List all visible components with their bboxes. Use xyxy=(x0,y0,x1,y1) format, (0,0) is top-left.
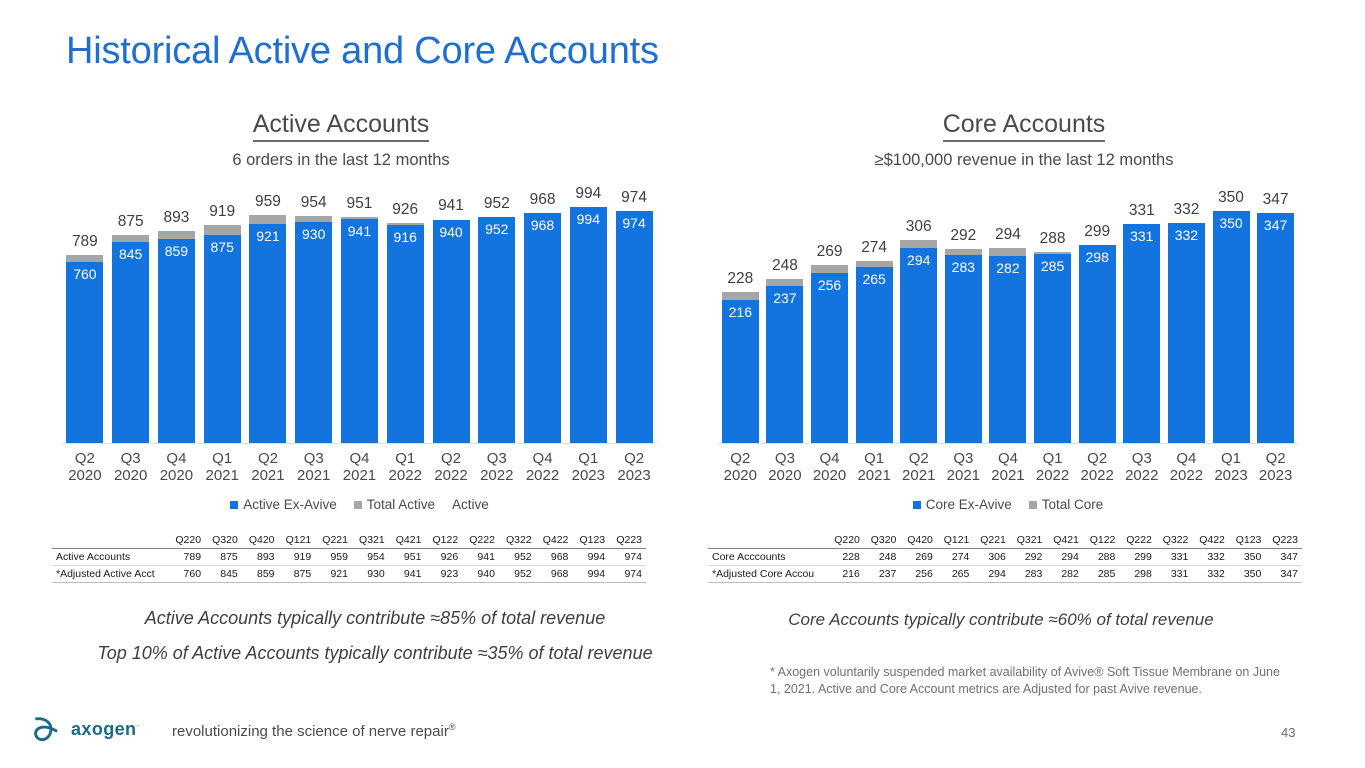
core-accounts-heading-text: Core Accounts xyxy=(943,110,1106,142)
bar-segment-ex-avive: 916 xyxy=(387,225,424,443)
axogen-wordmark-sup: · xyxy=(136,720,139,730)
bar-group: 954930 xyxy=(291,178,337,443)
bar-total-label: 994 xyxy=(575,185,601,203)
table-row: *Adjusted Core Accou21623725626529428328… xyxy=(708,566,1302,583)
table-cell: 941 xyxy=(462,549,499,566)
bar-segment-ex-avive: 283 xyxy=(945,255,982,443)
table-column-header: Q221 xyxy=(315,532,352,549)
table-column-header xyxy=(708,532,827,549)
table-column-header: Q422 xyxy=(1192,532,1229,549)
table-row: *Adjusted Active Acct7608458598759219309… xyxy=(52,566,646,583)
bar-value-label: 265 xyxy=(862,271,885,287)
bar-value-label: 282 xyxy=(996,260,1019,276)
table-cell: 926 xyxy=(425,549,462,566)
bar-group: 941940 xyxy=(428,178,474,443)
legend-item[interactable]: Active Ex-Avive xyxy=(230,497,337,512)
active-accounts-bars: 7897608758458938599198759599219549309519… xyxy=(62,178,657,443)
bar-segment-total xyxy=(66,255,103,262)
x-axis-tick: Q42020 xyxy=(154,450,200,484)
bar-value-label: 916 xyxy=(394,229,417,245)
bar-value-label: 347 xyxy=(1264,217,1287,233)
bar-value-label: 285 xyxy=(1041,258,1064,274)
bar-segment-ex-avive: 921 xyxy=(249,224,286,443)
table-cell: 216 xyxy=(827,566,864,583)
core-accounts-heading: Core Accounts xyxy=(683,110,1365,139)
table-cell: 282 xyxy=(1046,566,1083,583)
bar-segment-ex-avive: 875 xyxy=(204,235,241,443)
table-column-header: Q320 xyxy=(864,532,901,549)
bar-group: 288285 xyxy=(1030,178,1075,443)
table-header-row: Q220Q320Q420Q121Q221Q321Q421Q122Q222Q322… xyxy=(708,532,1302,549)
table-cell: 875 xyxy=(205,549,242,566)
bar-segment-ex-avive: 952 xyxy=(478,217,515,443)
bar-total-label: 347 xyxy=(1263,191,1289,209)
bar-segment-ex-avive: 994 xyxy=(570,207,607,443)
bar-group: 292283 xyxy=(941,178,986,443)
x-axis-tick: Q22020 xyxy=(718,450,763,484)
table-cell: 845 xyxy=(205,566,242,583)
table-cell: 299 xyxy=(1119,549,1156,566)
bar-group: 994994 xyxy=(565,178,611,443)
table-cell: 283 xyxy=(1010,566,1047,583)
table-cell: 331 xyxy=(1156,549,1193,566)
bar-segment-ex-avive: 285 xyxy=(1034,254,1071,443)
bar-total-label: 350 xyxy=(1218,189,1244,207)
bar-value-label: 968 xyxy=(531,217,554,233)
bar-segment-ex-avive: 282 xyxy=(989,256,1026,443)
table-cell: 306 xyxy=(973,549,1010,566)
bar-group: 306294 xyxy=(896,178,941,443)
table-column-header: Q221 xyxy=(973,532,1010,549)
table-cell: 959 xyxy=(315,549,352,566)
table-header-row: Q220Q320Q420Q121Q221Q321Q421Q122Q222Q322… xyxy=(52,532,646,549)
bar-segment-ex-avive: 331 xyxy=(1123,224,1160,444)
table-cell: 968 xyxy=(536,549,573,566)
bar-stack: 968 xyxy=(524,213,561,443)
table-column-header: Q223 xyxy=(1265,532,1302,549)
table-cell: 294 xyxy=(1046,549,1083,566)
active-accounts-x-axis: Q22020Q32020Q42020Q12021Q22021Q32021Q420… xyxy=(62,450,657,484)
bar-total-label: 292 xyxy=(950,227,976,245)
table-cell: 332 xyxy=(1192,549,1229,566)
core-accounts-bars: 2282162482372692562742653062942922832942… xyxy=(718,178,1298,443)
bar-group: 331331 xyxy=(1119,178,1164,443)
bar-total-label: 951 xyxy=(347,195,373,213)
bar-value-label: 921 xyxy=(256,228,279,244)
table-column-header: Q123 xyxy=(572,532,609,549)
bar-segment-ex-avive: 237 xyxy=(766,286,803,443)
bar-total-label: 332 xyxy=(1173,201,1199,219)
bar-total-label: 288 xyxy=(1040,230,1066,248)
table-row: Core Acccounts22824826927430629229428829… xyxy=(708,549,1302,566)
x-axis-tick: Q22023 xyxy=(611,450,657,484)
bar-value-label: 298 xyxy=(1085,249,1108,265)
table-cell: 332 xyxy=(1192,566,1229,583)
bar-group: 299298 xyxy=(1075,178,1120,443)
bar-stack: 859 xyxy=(158,231,195,443)
bar-total-label: 299 xyxy=(1084,223,1110,241)
bar-group: 350350 xyxy=(1209,178,1254,443)
table-cell: 228 xyxy=(827,549,864,566)
bar-value-label: 332 xyxy=(1175,227,1198,243)
bar-group: 959921 xyxy=(245,178,291,443)
legend-item[interactable]: Core Ex-Avive xyxy=(913,497,1012,512)
table-cell: 350 xyxy=(1229,566,1266,583)
bar-total-label: 269 xyxy=(817,243,843,261)
bar-value-label: 350 xyxy=(1219,215,1242,231)
table-column-header: Q322 xyxy=(1156,532,1193,549)
x-axis-tick: Q32022 xyxy=(1119,450,1164,484)
bar-stack: 283 xyxy=(945,249,982,443)
x-axis-tick: Q12022 xyxy=(1030,450,1075,484)
x-axis-tick: Q12023 xyxy=(565,450,611,484)
bar-value-label: 859 xyxy=(165,243,188,259)
table-column-header: Q421 xyxy=(1046,532,1083,549)
bar-segment-ex-avive: 256 xyxy=(811,273,848,443)
active-accounts-legend: Active Ex-AviveTotal ActiveActive xyxy=(62,497,657,512)
active-accounts-note-2: Top 10% of Active Accounts typically con… xyxy=(0,643,750,664)
bar-total-label: 228 xyxy=(727,270,753,288)
bar-group: 248237 xyxy=(763,178,808,443)
bar-group: 294282 xyxy=(986,178,1031,443)
bar-segment-total xyxy=(204,225,241,235)
x-axis-tick: Q22020 xyxy=(62,450,108,484)
x-axis-tick: Q12021 xyxy=(852,450,897,484)
bar-stack: 921 xyxy=(249,215,286,443)
bar-stack: 350 xyxy=(1213,211,1250,443)
tagline: revolutionizing the science of nerve rep… xyxy=(172,722,455,740)
bar-value-label: 760 xyxy=(73,266,96,282)
bar-stack: 331 xyxy=(1123,224,1160,444)
table-cell: 288 xyxy=(1083,549,1120,566)
bar-group: 332332 xyxy=(1164,178,1209,443)
bar-value-label: 845 xyxy=(119,246,142,262)
bar-value-label: 875 xyxy=(210,239,233,255)
bar-stack: 916 xyxy=(387,223,424,443)
bar-value-label: 237 xyxy=(773,290,796,306)
table-cell: 952 xyxy=(499,566,536,583)
bar-segment-ex-avive: 859 xyxy=(158,239,195,443)
core-accounts-x-axis: Q22020Q32020Q42020Q12021Q22021Q32021Q420… xyxy=(718,450,1298,484)
table-column-header: Q420 xyxy=(242,532,279,549)
table-cell: 923 xyxy=(425,566,462,583)
legend-label: Active Ex-Avive xyxy=(243,497,337,512)
table-cell: 350 xyxy=(1229,549,1266,566)
table-column-header: Q121 xyxy=(279,532,316,549)
bar-segment-total xyxy=(112,235,149,242)
bar-segment-total xyxy=(722,292,759,300)
bar-stack: 952 xyxy=(478,217,515,443)
bar-stack: 298 xyxy=(1079,245,1116,443)
bar-stack: 994 xyxy=(570,207,607,443)
tagline-registered-mark: ® xyxy=(449,722,456,732)
core-accounts-axis-line xyxy=(718,443,1298,444)
table-cell: 294 xyxy=(973,566,1010,583)
bar-total-label: 952 xyxy=(484,195,510,213)
bar-group: 789760 xyxy=(62,178,108,443)
bar-group: 968968 xyxy=(520,178,566,443)
table-row-label: Active Accounts xyxy=(52,549,168,566)
x-axis-tick: Q12021 xyxy=(199,450,245,484)
table-column-header: Q421 xyxy=(389,532,426,549)
table-cell: 921 xyxy=(315,566,352,583)
bar-stack: 875 xyxy=(204,225,241,443)
bar-total-label: 248 xyxy=(772,257,798,275)
bar-total-label: 954 xyxy=(301,194,327,212)
x-axis-tick: Q22022 xyxy=(428,450,474,484)
axogen-wordmark: axogen· xyxy=(71,719,140,740)
bar-value-label: 216 xyxy=(729,304,752,320)
bar-stack: 332 xyxy=(1168,223,1205,443)
bar-total-label: 959 xyxy=(255,193,281,211)
bar-stack: 237 xyxy=(766,279,803,443)
bar-segment-ex-avive: 940 xyxy=(433,220,470,443)
axogen-wordmark-text: axogen xyxy=(71,719,136,739)
bar-total-label: 968 xyxy=(530,191,556,209)
table-cell: 974 xyxy=(609,566,646,583)
x-axis-tick: Q42020 xyxy=(807,450,852,484)
x-axis-tick: Q42021 xyxy=(337,450,383,484)
slide: Historical Active and Core Accounts Acti… xyxy=(0,0,1365,768)
active-accounts-heading: Active Accounts xyxy=(0,110,682,139)
bar-total-label: 306 xyxy=(906,218,932,236)
bar-value-label: 930 xyxy=(302,226,325,242)
bar-group: 347347 xyxy=(1253,178,1298,443)
bar-total-label: 941 xyxy=(438,197,464,215)
bar-stack: 974 xyxy=(616,211,653,443)
bar-group: 274265 xyxy=(852,178,897,443)
table-column-header: Q222 xyxy=(1119,532,1156,549)
table-cell: 940 xyxy=(462,566,499,583)
table-column-header: Q122 xyxy=(1083,532,1120,549)
bar-group: 919875 xyxy=(199,178,245,443)
bar-segment-ex-avive: 298 xyxy=(1079,245,1116,443)
table-cell: 893 xyxy=(242,549,279,566)
core-accounts-subheading: ≥$100,000 revenue in the last 12 months xyxy=(683,151,1365,170)
x-axis-tick: Q22021 xyxy=(245,450,291,484)
page-number: 43 xyxy=(1281,725,1295,740)
bar-value-label: 940 xyxy=(439,224,462,240)
legend-label: Active xyxy=(452,497,489,512)
bar-value-label: 941 xyxy=(348,223,371,239)
bar-segment-total xyxy=(158,231,195,239)
table-column-header: Q123 xyxy=(1229,532,1266,549)
bar-value-label: 952 xyxy=(485,221,508,237)
bar-segment-ex-avive: 265 xyxy=(856,267,893,443)
bar-segment-total xyxy=(989,248,1026,256)
bar-total-label: 789 xyxy=(72,233,98,251)
table-cell: 994 xyxy=(572,549,609,566)
bar-segment-ex-avive: 294 xyxy=(900,248,937,443)
bar-segment-ex-avive: 332 xyxy=(1168,223,1205,443)
legend-swatch-icon xyxy=(1029,501,1037,509)
table-cell: 968 xyxy=(536,566,573,583)
bar-total-label: 274 xyxy=(861,239,887,257)
bar-value-label: 974 xyxy=(622,215,645,231)
table-row-label: Core Acccounts xyxy=(708,549,827,566)
bar-group: 893859 xyxy=(154,178,200,443)
x-axis-tick: Q42022 xyxy=(520,450,566,484)
table-column-header: Q420 xyxy=(900,532,937,549)
core-accounts-note-1: Core Accounts typically contribute ≈60% … xyxy=(683,610,1319,630)
table-cell: 292 xyxy=(1010,549,1047,566)
bar-total-label: 974 xyxy=(621,189,647,207)
active-accounts-axis-line xyxy=(62,443,657,444)
bar-segment-ex-avive: 968 xyxy=(524,213,561,443)
table-column-header: Q321 xyxy=(1010,532,1047,549)
bar-stack: 285 xyxy=(1034,252,1071,443)
x-axis-tick: Q32021 xyxy=(291,450,337,484)
bar-stack: 930 xyxy=(295,216,332,443)
table-column-header: Q220 xyxy=(168,532,205,549)
table-cell: 954 xyxy=(352,549,389,566)
table-cell: 974 xyxy=(609,549,646,566)
table-cell: 269 xyxy=(900,549,937,566)
active-accounts-table: Q220Q320Q420Q121Q221Q321Q421Q122Q222Q322… xyxy=(52,532,646,583)
legend-item[interactable]: Active xyxy=(452,497,489,512)
x-axis-tick: Q22022 xyxy=(1075,450,1120,484)
x-axis-tick: Q22023 xyxy=(1253,450,1298,484)
table-column-header: Q422 xyxy=(536,532,573,549)
legend-item[interactable]: Total Active xyxy=(354,497,435,512)
bar-total-label: 926 xyxy=(392,201,418,219)
bar-value-label: 256 xyxy=(818,277,841,293)
bar-stack: 256 xyxy=(811,265,848,443)
table-cell: 951 xyxy=(389,549,426,566)
table-cell: 994 xyxy=(572,566,609,583)
bar-group: 269256 xyxy=(807,178,852,443)
bar-segment-ex-avive: 941 xyxy=(341,219,378,443)
table-row: Active Accounts7898758939199599549519269… xyxy=(52,549,646,566)
tagline-text: revolutionizing the science of nerve rep… xyxy=(172,723,449,740)
bar-segment-total xyxy=(900,240,937,248)
table-cell: 274 xyxy=(937,549,974,566)
bar-total-label: 294 xyxy=(995,226,1021,244)
core-accounts-chart: 2282162482372692562742653062942922832942… xyxy=(718,178,1298,444)
x-axis-tick: Q32020 xyxy=(763,450,808,484)
bar-segment-ex-avive: 350 xyxy=(1213,211,1250,443)
bar-group: 952952 xyxy=(474,178,520,443)
avive-footnote: * Axogen voluntarily suspended market av… xyxy=(770,664,1290,698)
table-cell: 760 xyxy=(168,566,205,583)
bar-stack: 941 xyxy=(341,217,378,443)
table-cell: 248 xyxy=(864,549,901,566)
bar-total-label: 919 xyxy=(209,203,235,221)
bar-segment-ex-avive: 930 xyxy=(295,222,332,443)
bar-stack: 940 xyxy=(433,220,470,443)
active-accounts-note-1: Active Accounts typically contribute ≈85… xyxy=(0,608,750,629)
bar-segment-ex-avive: 845 xyxy=(112,242,149,443)
x-axis-tick: Q32020 xyxy=(108,450,154,484)
active-accounts-heading-text: Active Accounts xyxy=(253,110,429,142)
legend-swatch-icon xyxy=(913,501,921,509)
core-accounts-legend: Core Ex-AviveTotal Core xyxy=(718,497,1298,512)
table-column-header: Q222 xyxy=(462,532,499,549)
bar-stack: 265 xyxy=(856,261,893,443)
bar-value-label: 283 xyxy=(952,259,975,275)
legend-label: Total Active xyxy=(367,497,435,512)
legend-label: Core Ex-Avive xyxy=(926,497,1012,512)
bar-total-label: 875 xyxy=(118,213,144,231)
table-column-header: Q122 xyxy=(425,532,462,549)
table-cell: 941 xyxy=(389,566,426,583)
bar-group: 974974 xyxy=(611,178,657,443)
bar-group: 228216 xyxy=(718,178,763,443)
table-cell: 256 xyxy=(900,566,937,583)
bar-group: 875845 xyxy=(108,178,154,443)
table-column-header: Q220 xyxy=(827,532,864,549)
table-cell: 237 xyxy=(864,566,901,583)
table-cell: 347 xyxy=(1265,566,1302,583)
table-column-header: Q223 xyxy=(609,532,646,549)
bar-segment-total xyxy=(249,215,286,224)
x-axis-tick: Q12022 xyxy=(382,450,428,484)
legend-swatch-icon xyxy=(230,501,238,509)
active-accounts-chart: 7897608758458938599198759599219549309519… xyxy=(62,178,657,444)
x-axis-tick: Q42022 xyxy=(1164,450,1209,484)
bar-segment-ex-avive: 216 xyxy=(722,300,759,443)
bar-stack: 347 xyxy=(1257,213,1294,443)
table-row-label: *Adjusted Active Acct xyxy=(52,566,168,583)
bar-segment-ex-avive: 760 xyxy=(66,262,103,443)
legend-item[interactable]: Total Core xyxy=(1029,497,1104,512)
bar-total-label: 893 xyxy=(163,209,189,227)
table-column-header: Q321 xyxy=(352,532,389,549)
bar-segment-total xyxy=(811,265,848,274)
core-accounts-table: Q220Q320Q420Q121Q221Q321Q421Q122Q222Q322… xyxy=(708,532,1302,583)
table-cell: 285 xyxy=(1083,566,1120,583)
axogen-logo: axogen· xyxy=(28,712,140,746)
table-cell: 298 xyxy=(1119,566,1156,583)
table-column-header: Q121 xyxy=(937,532,974,549)
bar-group: 951941 xyxy=(337,178,383,443)
bar-segment-ex-avive: 347 xyxy=(1257,213,1294,443)
legend-label: Total Core xyxy=(1042,497,1104,512)
x-axis-tick: Q32022 xyxy=(474,450,520,484)
table-row-label: *Adjusted Core Accou xyxy=(708,566,827,583)
bar-stack: 216 xyxy=(722,292,759,443)
table-cell: 859 xyxy=(242,566,279,583)
table-cell: 347 xyxy=(1265,549,1302,566)
active-accounts-subheading: 6 orders in the last 12 months xyxy=(0,151,682,170)
table-column-header: Q322 xyxy=(499,532,536,549)
x-axis-tick: Q32021 xyxy=(941,450,986,484)
table-cell: 930 xyxy=(352,566,389,583)
bar-value-label: 994 xyxy=(577,211,600,227)
table-column-header: Q320 xyxy=(205,532,242,549)
bar-group: 926916 xyxy=(382,178,428,443)
x-axis-tick: Q22021 xyxy=(896,450,941,484)
bar-stack: 760 xyxy=(66,255,103,443)
bar-stack: 294 xyxy=(900,240,937,443)
bar-value-label: 294 xyxy=(907,252,930,268)
bar-segment-total xyxy=(766,279,803,286)
legend-swatch-icon xyxy=(354,501,362,509)
table-cell: 875 xyxy=(279,566,316,583)
x-axis-tick: Q12023 xyxy=(1209,450,1254,484)
table-cell: 265 xyxy=(937,566,974,583)
bar-segment-ex-avive: 974 xyxy=(616,211,653,443)
x-axis-tick: Q42021 xyxy=(986,450,1031,484)
table-cell: 952 xyxy=(499,549,536,566)
table-cell: 789 xyxy=(168,549,205,566)
bar-total-label: 331 xyxy=(1129,202,1155,220)
axogen-mark-icon xyxy=(28,712,62,746)
bar-stack: 282 xyxy=(989,248,1026,443)
bar-value-label: 331 xyxy=(1130,228,1153,244)
table-cell: 919 xyxy=(279,549,316,566)
table-cell: 331 xyxy=(1156,566,1193,583)
